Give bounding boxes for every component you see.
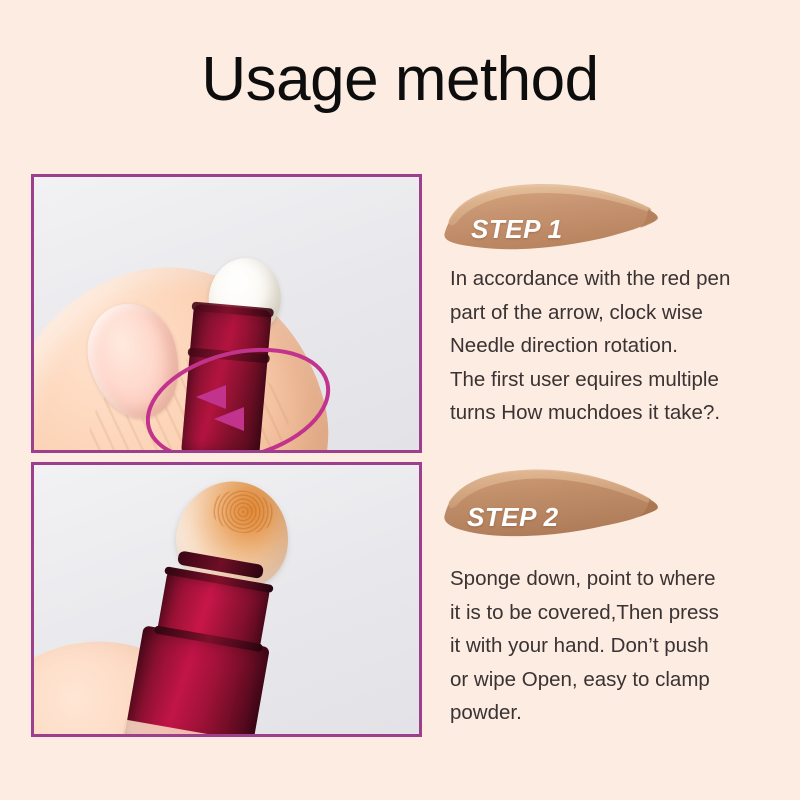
foundation-swatch: STEP 1 [443, 176, 665, 256]
step-1-line-5: turns How muchdoes it take?. [450, 396, 780, 430]
step-1-line-3: Needle direction rotation. [450, 329, 780, 363]
product-photo-step-1 [31, 174, 422, 453]
page-title: Usage method [0, 44, 800, 116]
step-2-line-3: it with your hand. Don’t push [450, 629, 780, 663]
step-2-description: Sponge down, point to where it is to be … [450, 562, 780, 730]
photo-background [34, 465, 419, 734]
product-photo-step-2 [31, 462, 422, 737]
step-1-label: STEP 1 [471, 214, 563, 245]
step-1-line-2: part of the arrow, clock wise [450, 296, 780, 330]
pen-body [181, 304, 272, 453]
photo-background [34, 177, 419, 450]
step-1-swatch-block: STEP 1 [443, 176, 665, 256]
cosmetic-pen [117, 476, 330, 737]
cosmetic-pen [176, 251, 285, 453]
step-2-line-5: powder. [450, 696, 780, 730]
step-2-line-4: or wipe Open, easy to clamp [450, 663, 780, 697]
step-1-line-4: The first user equires multiple [450, 363, 780, 397]
step-1-line-1: In accordance with the red pen [450, 262, 780, 296]
step-2-swatch-block: STEP 2 [443, 462, 665, 542]
foundation-swatch: STEP 2 [443, 462, 665, 542]
step-2-line-1: Sponge down, point to where [450, 562, 780, 596]
step-1-description: In accordance with the red pen part of t… [450, 262, 780, 430]
step-2-label: STEP 2 [467, 502, 559, 533]
step-2-line-2: it is to be covered,Then press [450, 596, 780, 630]
